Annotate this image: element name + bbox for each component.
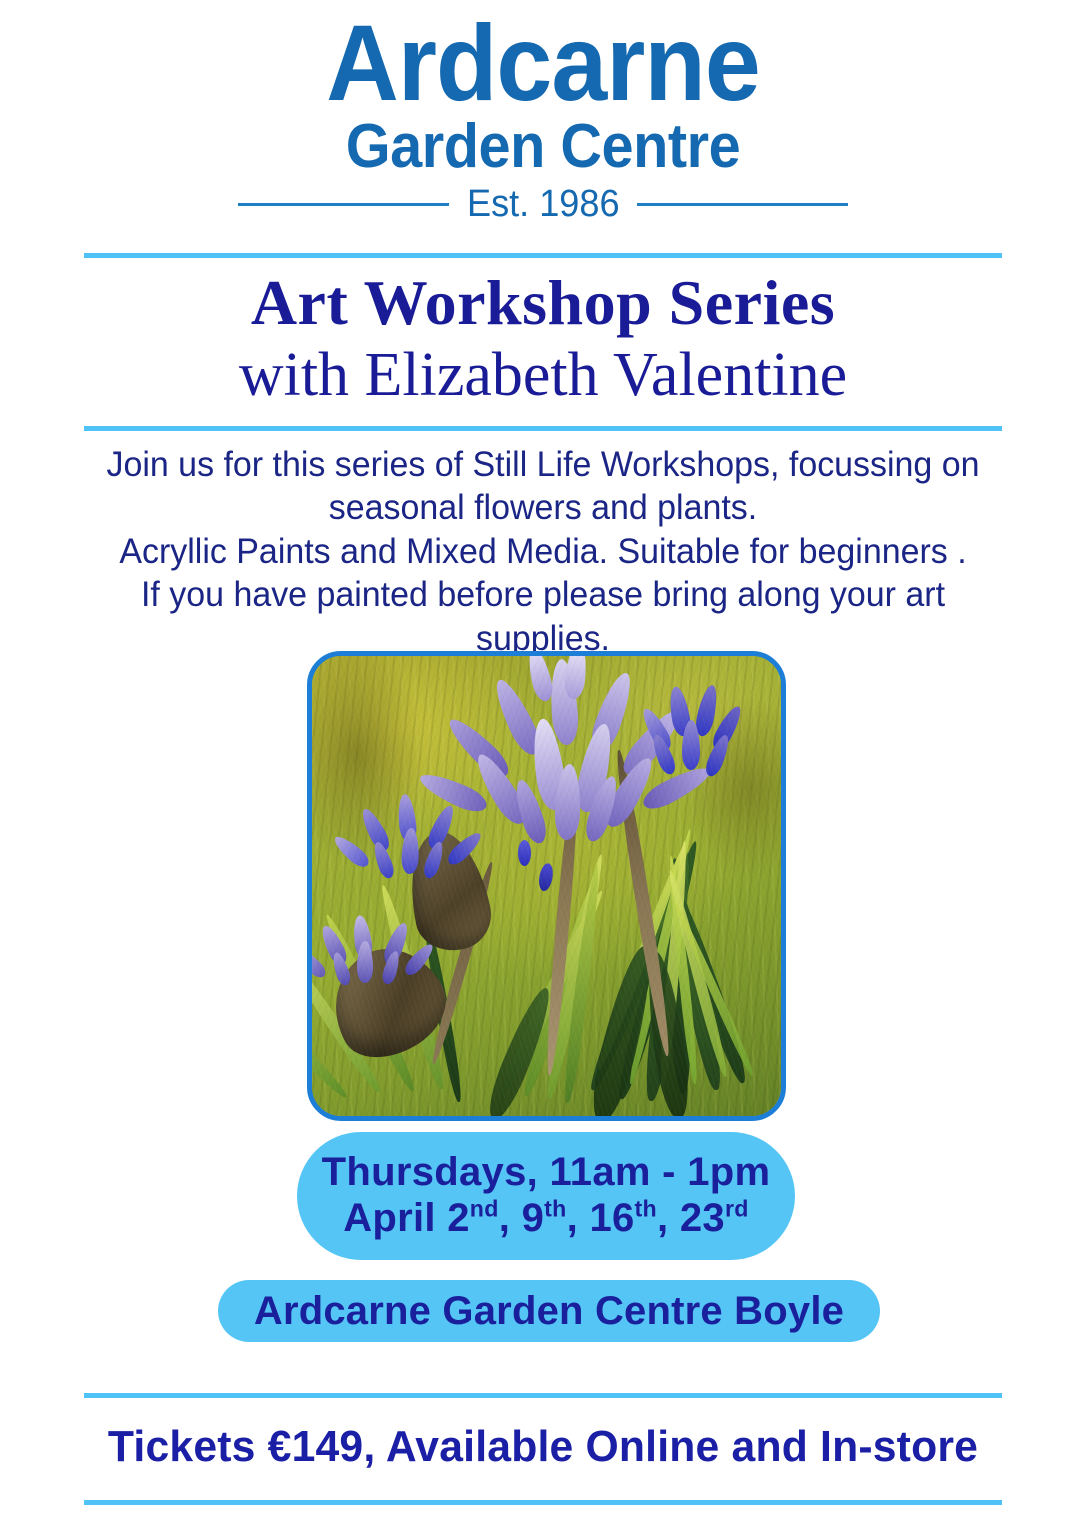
established-row: Est. 1986: [0, 183, 1086, 226]
established-rule-right: [637, 203, 848, 206]
schedule-pill: Thursdays, 11am - 1pm April 2nd, 9th, 16…: [297, 1132, 795, 1260]
established-rule-left: [238, 203, 449, 206]
schedule-date-ordinal: nd: [470, 1196, 499, 1222]
artwork-flower-right: [636, 679, 746, 799]
headline-subtitle: with Elizabeth Valentine: [0, 341, 1086, 409]
description-paragraph: Join us for this series of Still Life Wo…: [77, 443, 1008, 660]
schedule-date-item: 9th: [522, 1196, 567, 1240]
schedule-dates-prefix: April: [343, 1196, 447, 1240]
headline-block: Art Workshop Series with Elizabeth Valen…: [0, 268, 1086, 409]
schedule-dates: April 2nd, 9th, 16th, 23rd: [322, 1196, 771, 1242]
established-label: Est. 1986: [467, 183, 620, 226]
divider-bottom: [84, 1500, 1002, 1505]
artwork-image: [307, 651, 786, 1121]
schedule-date-item: 23rd: [680, 1196, 749, 1240]
divider-above-tickets: [84, 1393, 1002, 1398]
poster: Ardcarne Garden Centre Est. 1986 Art Wor…: [0, 0, 1086, 1536]
venue-pill: Ardcarne Garden Centre Boyle: [218, 1280, 880, 1342]
headline-title: Art Workshop Series: [0, 268, 1086, 337]
schedule-days-time: Thursdays, 11am - 1pm: [322, 1150, 771, 1196]
divider-top: [84, 253, 1002, 258]
tickets-line: Tickets €149, Available Online and In-st…: [16, 1422, 1069, 1472]
brand-name: Ardcarne: [38, 8, 1048, 118]
artwork-canvas: [312, 656, 781, 1116]
artwork-flower-lower-left: [312, 914, 438, 1000]
divider-under-headline: [84, 426, 1002, 431]
schedule-date-item: 16th: [589, 1196, 657, 1240]
brand-subtitle: Garden Centre: [38, 114, 1048, 179]
schedule-date-ordinal: th: [544, 1196, 567, 1222]
artwork-flower-left-mid: [350, 789, 478, 895]
brand-logo: Ardcarne Garden Centre Est. 1986: [0, 8, 1086, 226]
schedule-date-item: 2nd: [447, 1196, 498, 1240]
schedule-date-ordinal: rd: [725, 1196, 749, 1222]
schedule-date-ordinal: th: [635, 1196, 658, 1222]
schedule-text: Thursdays, 11am - 1pm April 2nd, 9th, 16…: [322, 1150, 771, 1241]
